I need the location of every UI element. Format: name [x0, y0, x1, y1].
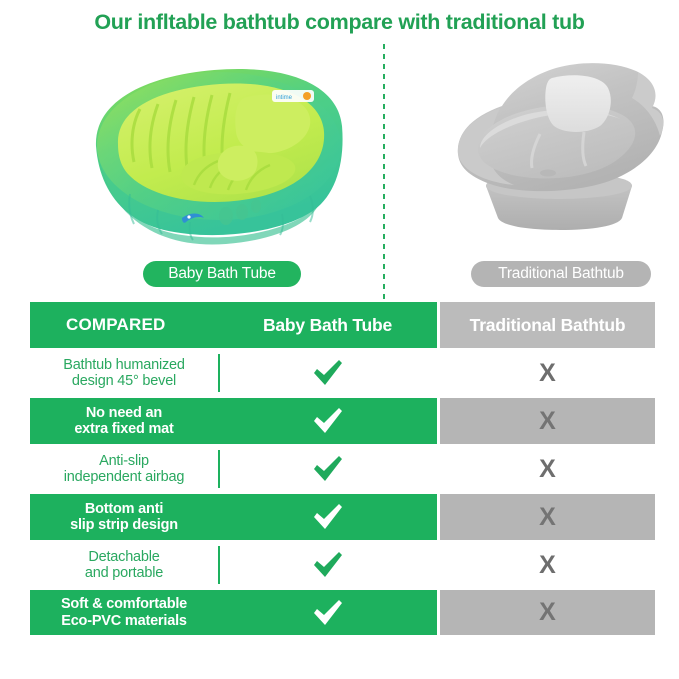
row-right-block: X: [440, 590, 655, 635]
baby-bath-tube-check: [218, 446, 437, 492]
inflatable-baby-bathtub-image: intime: [86, 54, 350, 252]
traditional-plastic-bathtub-image: [452, 50, 668, 250]
row-label: Bathtub humanizeddesign 45° bevel: [30, 350, 218, 396]
comparison-table: COMPARED Baby Bath Tube Traditional Bath…: [30, 302, 655, 635]
traditional-bathtub-x: X: [440, 590, 655, 635]
table-row: Anti-slipindependent airbag X: [30, 446, 655, 492]
row-right-block: X: [440, 446, 655, 492]
check-icon: [311, 502, 345, 532]
row-left-block: No need anextra fixed mat: [30, 398, 437, 444]
row-left-block: Bottom antislip strip design: [30, 494, 437, 540]
row-right-block: X: [440, 350, 655, 396]
caption-traditional-bathtub: Traditional Bathtub: [471, 261, 651, 287]
table-row: Bottom antislip strip design X: [30, 494, 655, 540]
row-left-block: Bathtub humanizeddesign 45° bevel: [30, 350, 437, 396]
check-icon: [311, 406, 345, 436]
table-row: Soft & comfortableEco-PVC materials X: [30, 590, 655, 635]
check-icon: [311, 550, 345, 580]
table-header-row: COMPARED Baby Bath Tube Traditional Bath…: [30, 302, 655, 348]
row-left-block: Soft & comfortableEco-PVC materials: [30, 590, 437, 635]
table-row: No need anextra fixed mat X: [30, 398, 655, 444]
check-icon: [311, 598, 345, 628]
row-left-block: Anti-slipindependent airbag: [30, 446, 437, 492]
baby-bath-tube-check: [218, 398, 437, 444]
header-traditional-bathtub: Traditional Bathtub: [440, 302, 655, 348]
baby-bath-tube-check: [218, 542, 437, 588]
row-label: Bottom antislip strip design: [30, 494, 218, 540]
header-compared: COMPARED: [30, 302, 218, 348]
baby-bath-tube-check: [218, 494, 437, 540]
check-icon: [311, 358, 345, 388]
row-label: Anti-slipindependent airbag: [30, 446, 218, 492]
header-left-block: COMPARED Baby Bath Tube: [30, 302, 437, 348]
row-label: Soft & comfortableEco-PVC materials: [30, 590, 218, 635]
row-label: Detachableand portable: [30, 542, 218, 588]
row-left-block: Detachableand portable: [30, 542, 437, 588]
table-row: Bathtub humanizeddesign 45° bevel X: [30, 350, 655, 396]
header-baby-bath-tube: Baby Bath Tube: [218, 302, 437, 348]
traditional-bathtub-x: X: [440, 494, 655, 540]
caption-baby-bath-tube: Baby Bath Tube: [143, 261, 301, 287]
traditional-bathtub-x: X: [440, 350, 655, 396]
traditional-bathtub-x: X: [440, 542, 655, 588]
page-title: Our infltable bathtub compare with tradi…: [0, 10, 679, 35]
traditional-bathtub-x: X: [440, 398, 655, 444]
row-label: No need anextra fixed mat: [30, 398, 218, 444]
row-right-block: X: [440, 542, 655, 588]
row-right-block: X: [440, 398, 655, 444]
traditional-bathtub-x: X: [440, 446, 655, 492]
table-row: Detachableand portable X: [30, 542, 655, 588]
baby-bath-tube-check: [218, 590, 437, 635]
header-right-block: Traditional Bathtub: [440, 302, 655, 348]
row-right-block: X: [440, 494, 655, 540]
check-icon: [311, 454, 345, 484]
svg-text:intime: intime: [276, 95, 293, 101]
baby-bath-tube-check: [218, 350, 437, 396]
product-image-area: intime: [0, 48, 679, 258]
